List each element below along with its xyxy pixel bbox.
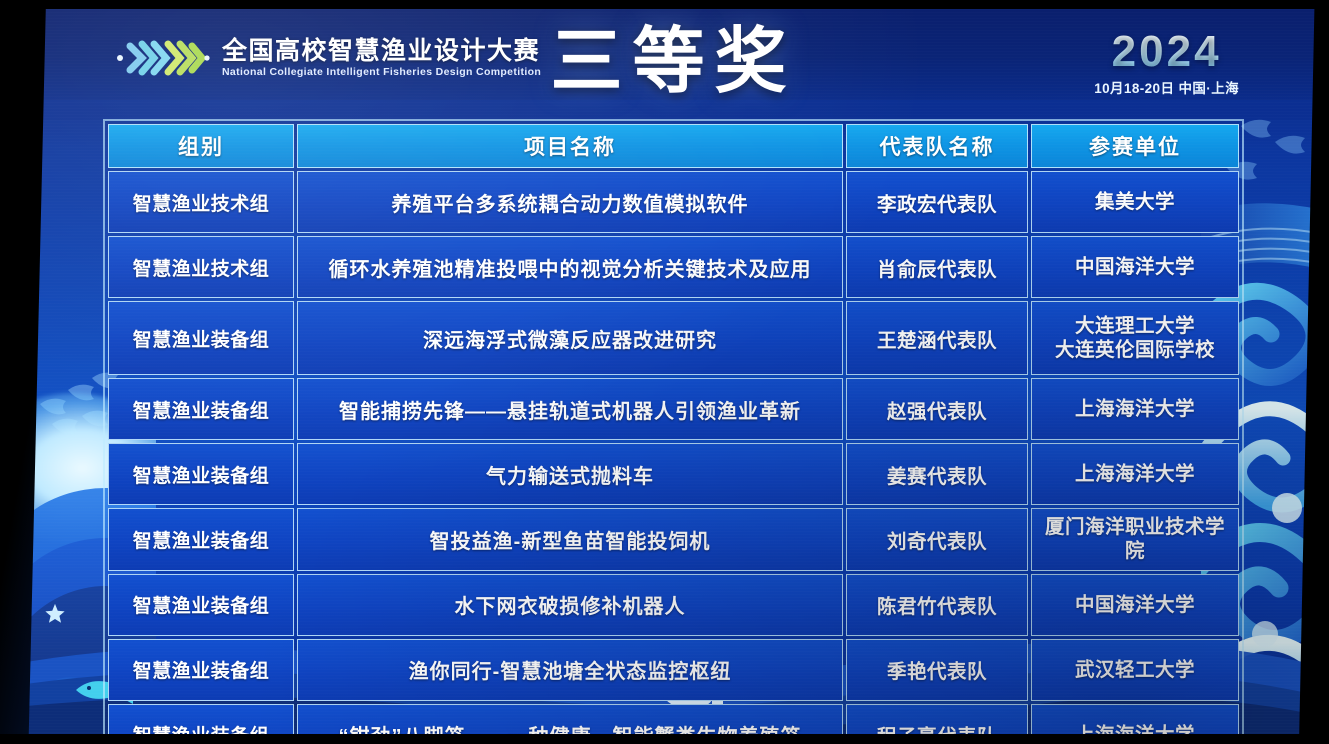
cell-unit-line: 上海海洋大学 [1038,723,1232,736]
table-row: 智慧渔业装备组智能捕捞先锋——悬挂轨道式机器人引领渔业革新赵强代表队上海海洋大学 [108,378,1239,440]
cell-project: 深远海浮式微藻反应器改进研究 [297,301,843,375]
cell-project: 水下网衣破损修补机器人 [297,574,843,636]
cell-unit-line: 大连理工大学 [1038,314,1232,338]
table-row: 智慧渔业装备组“钳劲”八脚笼——一种健康、智能蟹类生物养殖笼程子豪代表队上海海洋… [108,704,1239,736]
table-row: 智慧渔业装备组智投益渔-新型鱼苗智能投饲机刘奇代表队厦门海洋职业技术学院 [108,508,1239,571]
column-header-project: 项目名称 [297,124,843,168]
cell-project: 智投益渔-新型鱼苗智能投饲机 [297,508,843,571]
cell-group: 智慧渔业技术组 [108,236,294,298]
cell-project: 智能捕捞先锋——悬挂轨道式机器人引领渔业革新 [297,378,843,440]
column-header-unit: 参赛单位 [1031,124,1239,168]
cell-unit: 集美大学 [1031,171,1239,233]
cell-group: 智慧渔业技术组 [108,171,294,233]
cell-project: 养殖平台多系统耦合动力数值模拟软件 [297,171,843,233]
cell-unit: 上海海洋大学 [1031,704,1239,736]
award-table: 组别 项目名称 代表队名称 参赛单位 智慧渔业技术组养殖平台多系统耦合动力数值模… [105,121,1242,736]
cell-unit-line: 中国海洋大学 [1038,255,1232,279]
cell-unit: 大连理工大学大连英伦国际学校 [1031,301,1239,375]
cell-team: 姜赛代表队 [846,443,1028,505]
cell-project: “钳劲”八脚笼——一种健康、智能蟹类生物养殖笼 [297,704,843,736]
cell-unit-line: 武汉轻工大学 [1038,658,1232,682]
cell-unit-line: 上海海洋大学 [1038,397,1232,421]
cell-group: 智慧渔业装备组 [108,574,294,636]
table-header-row: 组别 项目名称 代表队名称 参赛单位 [108,124,1239,168]
table-row: 智慧渔业装备组深远海浮式微藻反应器改进研究王楚涵代表队大连理工大学大连英伦国际学… [108,301,1239,375]
cell-team: 李政宏代表队 [846,171,1028,233]
cell-unit-line: 大连英伦国际学校 [1038,338,1232,362]
cell-team: 王楚涵代表队 [846,301,1028,375]
cell-team: 程子豪代表队 [846,704,1028,736]
cell-group: 智慧渔业装备组 [108,443,294,505]
cell-project: 渔你同行-智慧池塘全状态监控枢纽 [297,639,843,701]
cell-unit: 中国海洋大学 [1031,574,1239,636]
cell-group: 智慧渔业装备组 [108,301,294,375]
cell-team: 赵强代表队 [846,378,1028,440]
year-block: 2024 10月18-20日 中国·上海 [1094,30,1239,97]
column-header-group: 组别 [108,124,294,168]
cell-unit: 武汉轻工大学 [1031,639,1239,701]
table-row: 智慧渔业装备组水下网衣破损修补机器人陈君竹代表队中国海洋大学 [108,574,1239,636]
table-row: 智慧渔业技术组循环水养殖池精准投喂中的视觉分析关键技术及应用肖俞辰代表队中国海洋… [108,236,1239,298]
cell-team: 肖俞辰代表队 [846,236,1028,298]
cell-group: 智慧渔业装备组 [108,378,294,440]
award-table-body: 智慧渔业技术组养殖平台多系统耦合动力数值模拟软件李政宏代表队集美大学智慧渔业技术… [108,171,1239,736]
cell-group: 智慧渔业装备组 [108,704,294,736]
award-table-wrapper: 组别 项目名称 代表队名称 参赛单位 智慧渔业技术组养殖平台多系统耦合动力数值模… [105,121,1231,736]
projection-screen: 全国高校智慧渔业设计大赛 National Collegiate Intelli… [26,8,1321,736]
cell-team: 季艳代表队 [846,639,1028,701]
column-header-team: 代表队名称 [846,124,1028,168]
cell-unit: 上海海洋大学 [1031,378,1239,440]
cell-unit-line: 上海海洋大学 [1038,462,1232,486]
cell-unit-line: 中国海洋大学 [1038,593,1232,617]
year-number: 2024 [1094,30,1239,74]
cell-project: 循环水养殖池精准投喂中的视觉分析关键技术及应用 [297,236,843,298]
cell-team: 刘奇代表队 [846,508,1028,571]
table-row: 智慧渔业装备组渔你同行-智慧池塘全状态监控枢纽季艳代表队武汉轻工大学 [108,639,1239,701]
cell-unit-line: 集美大学 [1038,190,1232,214]
table-row: 智慧渔业技术组养殖平台多系统耦合动力数值模拟软件李政宏代表队集美大学 [108,171,1239,233]
cell-group: 智慧渔业装备组 [108,639,294,701]
screenshot-stage: 全国高校智慧渔业设计大赛 National Collegiate Intelli… [0,0,1329,744]
cell-unit-line: 厦门海洋职业技术学院 [1038,515,1232,564]
cell-unit: 上海海洋大学 [1031,443,1239,505]
cell-team: 陈君竹代表队 [846,574,1028,636]
star-icon [44,603,66,625]
cell-unit: 中国海洋大学 [1031,236,1239,298]
event-date-location: 10月18-20日 中国·上海 [1094,77,1239,97]
cell-group: 智慧渔业装备组 [108,508,294,571]
table-row: 智慧渔业装备组气力输送式抛料车姜赛代表队上海海洋大学 [108,443,1239,505]
cell-project: 气力输送式抛料车 [297,443,843,505]
cell-unit: 厦门海洋职业技术学院 [1031,508,1239,571]
